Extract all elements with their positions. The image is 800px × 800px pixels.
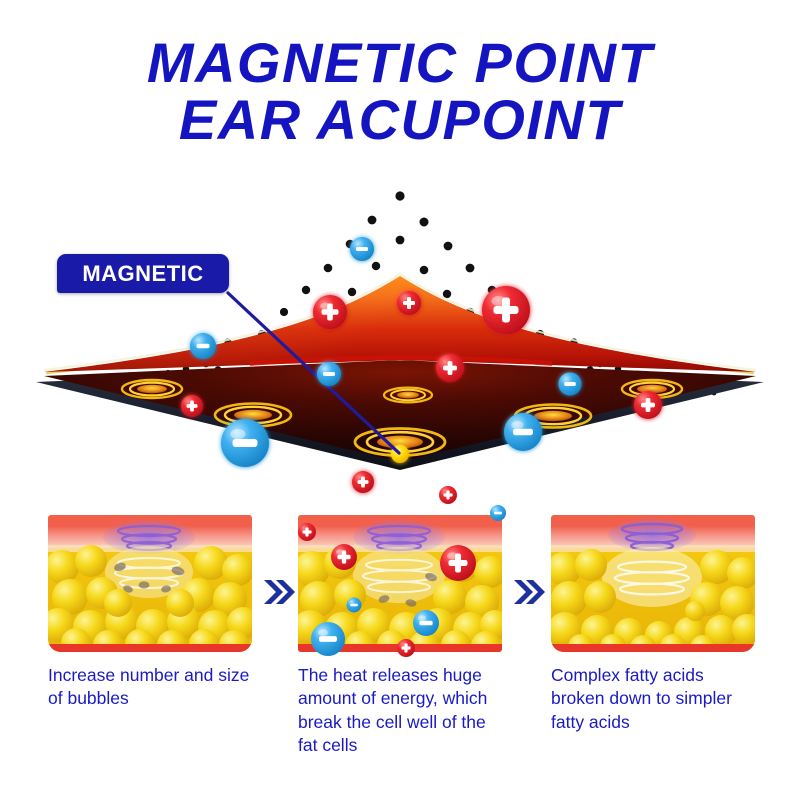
magnetic-point-ring bbox=[122, 380, 182, 398]
positive-ion bbox=[298, 523, 316, 541]
positive-ion bbox=[352, 471, 374, 493]
title-line-2: EAR ACUPOINT bbox=[0, 91, 800, 148]
negative-ion bbox=[347, 598, 362, 613]
panel-3-artwork bbox=[551, 515, 755, 652]
fat-cells-with-bubbles-svg bbox=[48, 515, 252, 652]
negative-ion-large bbox=[311, 622, 345, 656]
positive-ion-large bbox=[440, 545, 476, 581]
process-panel-row: Increase number and size of bubbles bbox=[0, 515, 800, 795]
negative-ion bbox=[350, 237, 374, 261]
negative-ion bbox=[317, 362, 341, 386]
negative-ion-large bbox=[504, 413, 542, 451]
double-chevron-arrow-2 bbox=[512, 577, 546, 607]
positive-ion bbox=[397, 639, 415, 657]
double-chevron-arrow-1 bbox=[262, 577, 296, 607]
magnetic-point-ring bbox=[384, 388, 432, 403]
fat-cells-with-ions-svg bbox=[298, 515, 502, 652]
panel-heat-energy: The heat releases huge amount of energy,… bbox=[298, 515, 502, 757]
negative-ion bbox=[413, 610, 439, 636]
reduced-fat-cells-svg bbox=[551, 515, 755, 652]
positive-ion bbox=[634, 391, 662, 419]
positive-ion bbox=[331, 544, 357, 570]
positive-ion-large bbox=[482, 286, 530, 334]
panel-fatty-acids: Complex fatty acids broken down to simpl… bbox=[551, 515, 755, 734]
magnetic-callout-label: MAGNETIC bbox=[82, 263, 203, 285]
panel-3-caption: Complex fatty acids broken down to simpl… bbox=[551, 664, 755, 734]
negative-ion bbox=[490, 505, 506, 521]
panel-2-artwork bbox=[298, 515, 502, 652]
positive-ion bbox=[313, 295, 347, 329]
positive-ion bbox=[181, 395, 203, 417]
positive-ion bbox=[397, 291, 421, 315]
positive-ion bbox=[436, 354, 464, 382]
title-line-1: MAGNETIC POINT bbox=[0, 34, 800, 91]
chevron-right-icon bbox=[262, 577, 296, 607]
positive-ion bbox=[439, 486, 457, 504]
panel-1-caption: Increase number and size of bubbles bbox=[48, 664, 252, 711]
chevron-right-icon bbox=[512, 577, 546, 607]
panel-1-artwork bbox=[48, 515, 252, 652]
panel-2-caption: The heat releases huge amount of energy,… bbox=[298, 664, 502, 757]
magnetic-ear-acupoint-illustration: MAGNETIC bbox=[0, 170, 800, 500]
hero-diagram-svg bbox=[0, 170, 800, 500]
panel-increase-bubbles: Increase number and size of bubbles bbox=[48, 515, 252, 711]
negative-ion bbox=[559, 373, 582, 396]
magnetic-callout-badge[interactable]: MAGNETIC bbox=[57, 254, 229, 293]
page-title: MAGNETIC POINT EAR ACUPOINT bbox=[0, 34, 800, 148]
negative-ion bbox=[190, 333, 216, 359]
negative-ion-large bbox=[221, 419, 269, 467]
